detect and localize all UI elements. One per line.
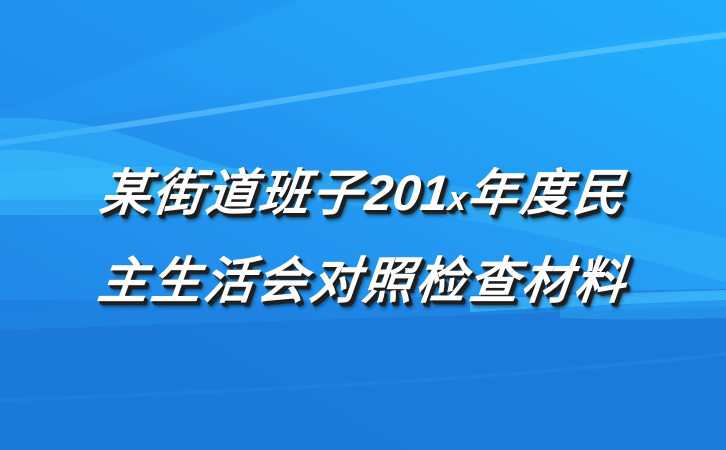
title-line-1: 某街道班子201x年度民 bbox=[0, 152, 726, 240]
title-line1-prefix: 某街道班子 bbox=[97, 165, 368, 221]
title-line-2: 主生活会对照检查材料 bbox=[0, 240, 726, 322]
title-block: 某街道班子201x年度民 主生活会对照检查材料 bbox=[0, 152, 726, 322]
title-line1-suffix: 年度民 bbox=[465, 165, 630, 221]
wave-bottom-deep bbox=[0, 307, 726, 450]
cover-slide: 某街道班子201x年度民 主生活会对照检查材料 bbox=[0, 0, 726, 450]
title-line1-year-digits: 201 bbox=[362, 165, 451, 221]
